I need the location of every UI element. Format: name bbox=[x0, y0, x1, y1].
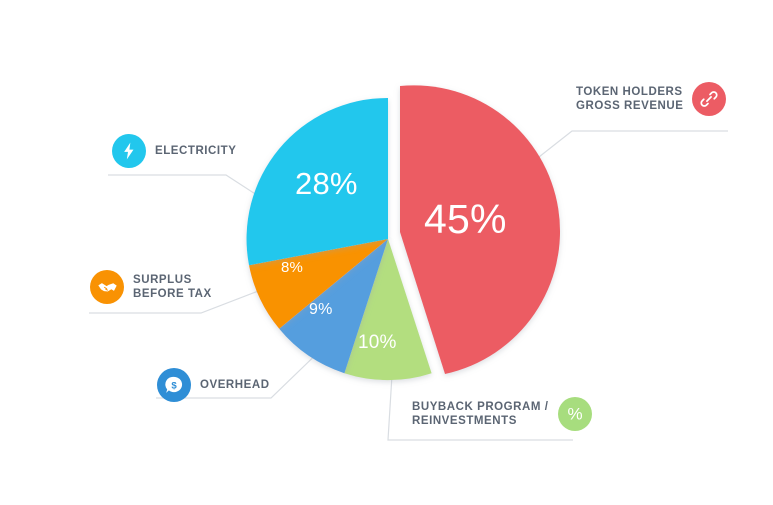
legend-label-overhead: OVERHEAD bbox=[200, 378, 270, 392]
slice-value-surplus: 8% bbox=[281, 259, 303, 276]
slice-value-electricity: 28% bbox=[295, 166, 358, 202]
legend-item-surplus-before-tax[interactable]: SURPLUS BEFORE TAX bbox=[90, 270, 212, 304]
link-icon bbox=[692, 82, 726, 116]
legend-item-overhead[interactable]: $ OVERHEAD bbox=[157, 368, 270, 402]
svg-text:$: $ bbox=[171, 380, 177, 391]
slice-value-buyback: 10% bbox=[358, 332, 397, 354]
legend-label-buyback-program: BUYBACK PROGRAM / REINVESTMENTS bbox=[412, 400, 549, 428]
pie-chart-canvas bbox=[0, 0, 773, 505]
percent-icon: % bbox=[558, 397, 592, 431]
legend-item-token-holders[interactable]: TOKEN HOLDERS GROSS REVENUE bbox=[576, 82, 726, 116]
lightning-bolt-icon bbox=[112, 134, 146, 168]
legend-item-buyback-program[interactable]: BUYBACK PROGRAM / REINVESTMENTS % bbox=[412, 397, 592, 431]
dollar-bubble-icon: $ bbox=[157, 368, 191, 402]
legend-label-surplus-before-tax: SURPLUS BEFORE TAX bbox=[133, 273, 212, 301]
pie-slices bbox=[247, 85, 560, 380]
pie-chart-infographic: 45% 28% 10% 9% 8% TOKEN HOLDERS GROSS RE… bbox=[0, 0, 773, 505]
handshake-icon bbox=[90, 270, 124, 304]
svg-text:%: % bbox=[567, 405, 582, 424]
legend-item-electricity[interactable]: ELECTRICITY bbox=[112, 134, 236, 168]
legend-label-token-holders: TOKEN HOLDERS GROSS REVENUE bbox=[576, 85, 683, 113]
slice-value-overhead: 9% bbox=[309, 301, 333, 319]
legend-label-electricity: ELECTRICITY bbox=[155, 144, 236, 158]
slice-value-token: 45% bbox=[424, 196, 507, 243]
